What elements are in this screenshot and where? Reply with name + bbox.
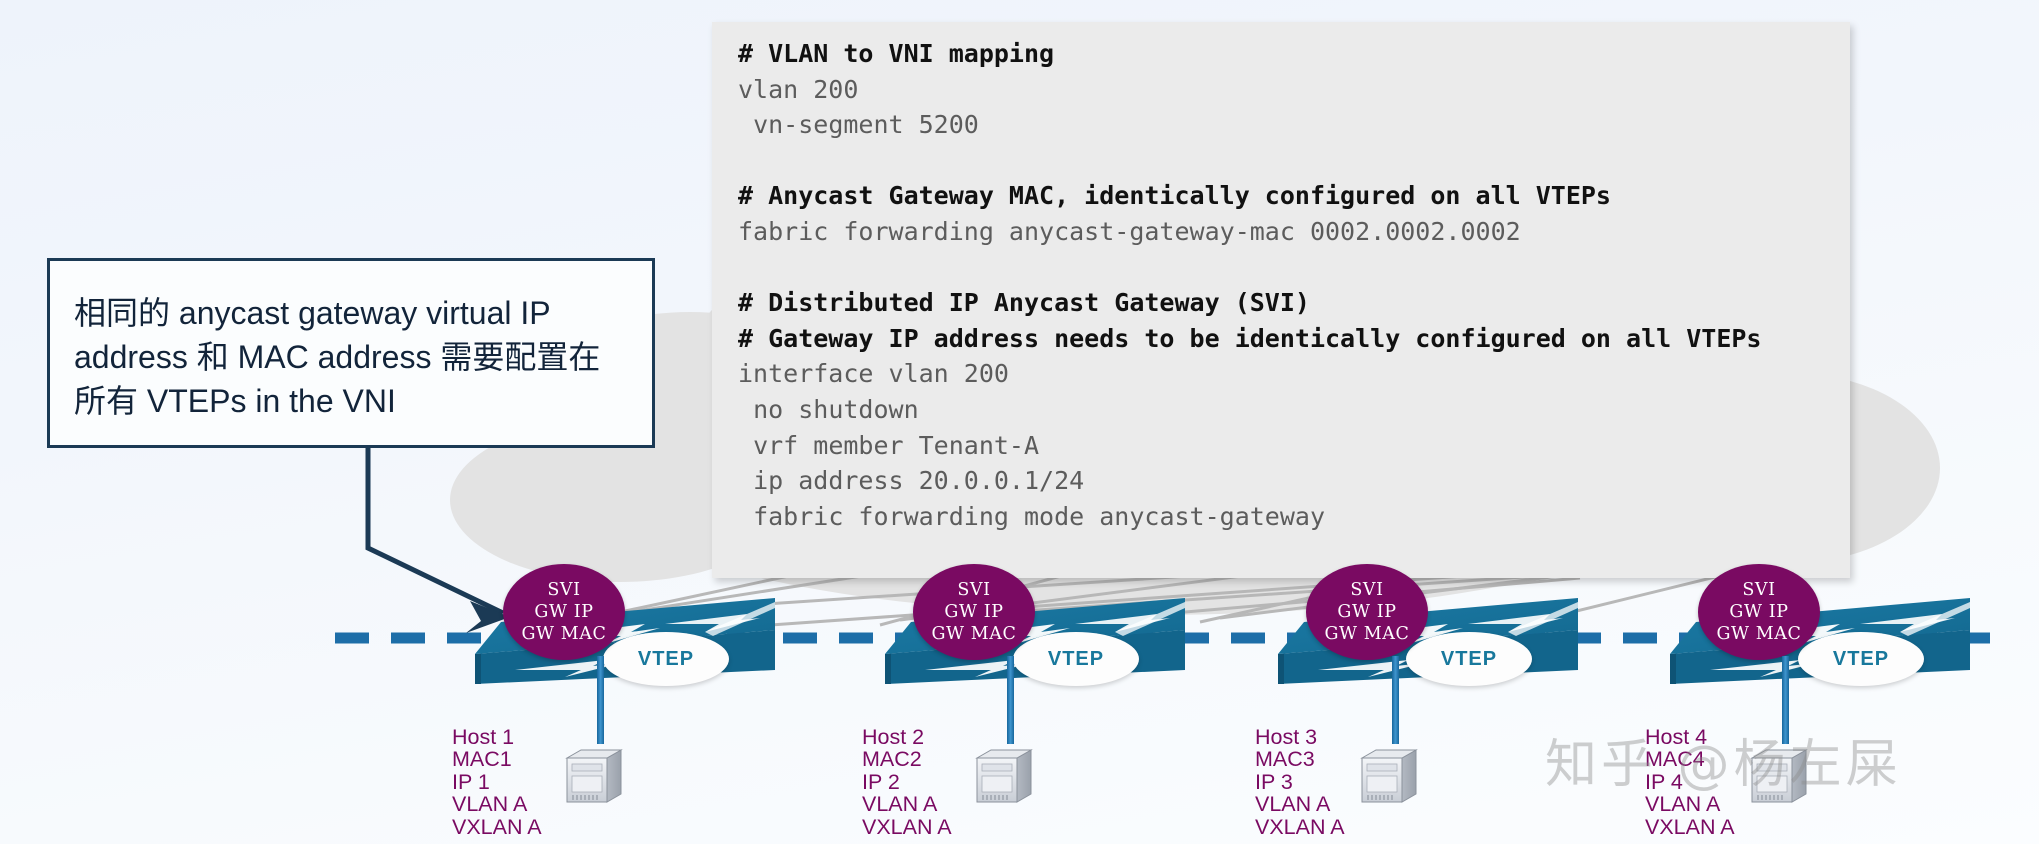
vtep-badge: VTEP	[1798, 632, 1924, 686]
host-label-line: VLAN A	[862, 793, 952, 815]
config-line: vlan 200	[738, 75, 858, 104]
host-label: Host 1MAC1IP 1VLAN AVXLAN A	[452, 726, 542, 838]
svi-gateway-badge: SVIGW IPGW MAC	[913, 564, 1035, 660]
svi-gateway-badge: SVIGW IPGW MAC	[1306, 564, 1428, 660]
host-label-line: MAC4	[1645, 748, 1735, 770]
host-label-line: VXLAN A	[1645, 816, 1735, 838]
vtep-badge: VTEP	[603, 632, 729, 686]
host-label: Host 3MAC3IP 3VLAN AVXLAN A	[1255, 726, 1345, 838]
host-label-line: IP 4	[1645, 771, 1735, 793]
host-label-line: IP 2	[862, 771, 952, 793]
host-label-line: Host 2	[862, 726, 952, 748]
host-label: Host 2MAC2IP 2VLAN AVXLAN A	[862, 726, 952, 838]
host-label-line: VXLAN A	[452, 816, 542, 838]
host-label-line: Host 3	[1255, 726, 1345, 748]
vtep-switch-node[interactable]: VTEPSVIGW IPGW MAC	[1650, 592, 1970, 682]
host-label-line: IP 1	[452, 771, 542, 793]
host-label-line: VXLAN A	[1255, 816, 1345, 838]
config-line: vn-segment 5200	[738, 110, 979, 139]
svi-badge-line: SVI	[1350, 579, 1383, 601]
config-line: # VLAN to VNI mapping	[738, 39, 1054, 68]
svi-badge-line: GW MAC	[931, 623, 1016, 645]
host-label-line: VXLAN A	[862, 816, 952, 838]
config-line: # Gateway IP address needs to be identic…	[738, 324, 1762, 353]
vtep-switch-node[interactable]: VTEPSVIGW IPGW MAC	[865, 592, 1185, 682]
config-line: # Anycast Gateway MAC, identically confi…	[738, 181, 1611, 210]
host-link	[597, 656, 604, 744]
host-label-line: Host 4	[1645, 726, 1735, 748]
host-computer-icon	[1358, 744, 1420, 806]
host-link	[1392, 656, 1399, 744]
svi-badge-line: GW IP	[1729, 601, 1788, 623]
config-line: fabric forwarding mode anycast-gateway	[738, 502, 1325, 531]
host-link	[1007, 656, 1014, 744]
svi-badge-line: GW MAC	[1716, 623, 1801, 645]
annotation-callout-text: 相同的 anycast gateway virtual IP address 和…	[74, 291, 630, 423]
svi-badge-line: GW IP	[1337, 601, 1396, 623]
host-label-line: MAC2	[862, 748, 952, 770]
diagram-canvas: # VLAN to VNI mapping vlan 200 vn-segmen…	[0, 0, 2039, 844]
host-label-line: VLAN A	[452, 793, 542, 815]
cli-config-text: # VLAN to VNI mapping vlan 200 vn-segmen…	[738, 36, 1850, 534]
annotation-callout: 相同的 anycast gateway virtual IP address 和…	[47, 258, 655, 448]
config-line: vrf member Tenant-A	[738, 431, 1039, 460]
host-label-line: Host 1	[452, 726, 542, 748]
config-line: no shutdown	[738, 395, 919, 424]
host-label-line: VLAN A	[1645, 793, 1735, 815]
host-label-line: VLAN A	[1255, 793, 1345, 815]
svi-gateway-badge: SVIGW IPGW MAC	[1698, 564, 1820, 660]
config-line: ip address 20.0.0.1/24	[738, 466, 1084, 495]
config-line: # Distributed IP Anycast Gateway (SVI)	[738, 288, 1310, 317]
host-computer-icon	[1748, 744, 1810, 806]
vtep-badge: VTEP	[1013, 632, 1139, 686]
host-label-line: MAC3	[1255, 748, 1345, 770]
svi-badge-line: GW IP	[944, 601, 1003, 623]
config-line: interface vlan 200	[738, 359, 1009, 388]
vtep-switch-node[interactable]: VTEPSVIGW IPGW MAC	[1258, 592, 1578, 682]
host-label: Host 4MAC4IP 4VLAN AVXLAN A	[1645, 726, 1735, 838]
config-line: fabric forwarding anycast-gateway-mac 00…	[738, 217, 1521, 246]
vtep-switch-node[interactable]: VTEPSVIGW IPGW MAC	[455, 592, 775, 682]
svi-gateway-badge: SVIGW IPGW MAC	[503, 564, 625, 660]
svi-badge-line: SVI	[957, 579, 990, 601]
host-label-line: IP 3	[1255, 771, 1345, 793]
host-computer-icon	[973, 744, 1035, 806]
svi-badge-line: SVI	[1742, 579, 1775, 601]
svi-badge-line: GW MAC	[1324, 623, 1409, 645]
vtep-badge: VTEP	[1406, 632, 1532, 686]
svi-badge-line: SVI	[547, 579, 580, 601]
host-label-line: MAC1	[452, 748, 542, 770]
cli-config-panel: # VLAN to VNI mapping vlan 200 vn-segmen…	[712, 22, 1850, 578]
host-link	[1782, 656, 1789, 744]
host-computer-icon	[563, 744, 625, 806]
svi-badge-line: GW MAC	[521, 623, 606, 645]
svi-badge-line: GW IP	[534, 601, 593, 623]
